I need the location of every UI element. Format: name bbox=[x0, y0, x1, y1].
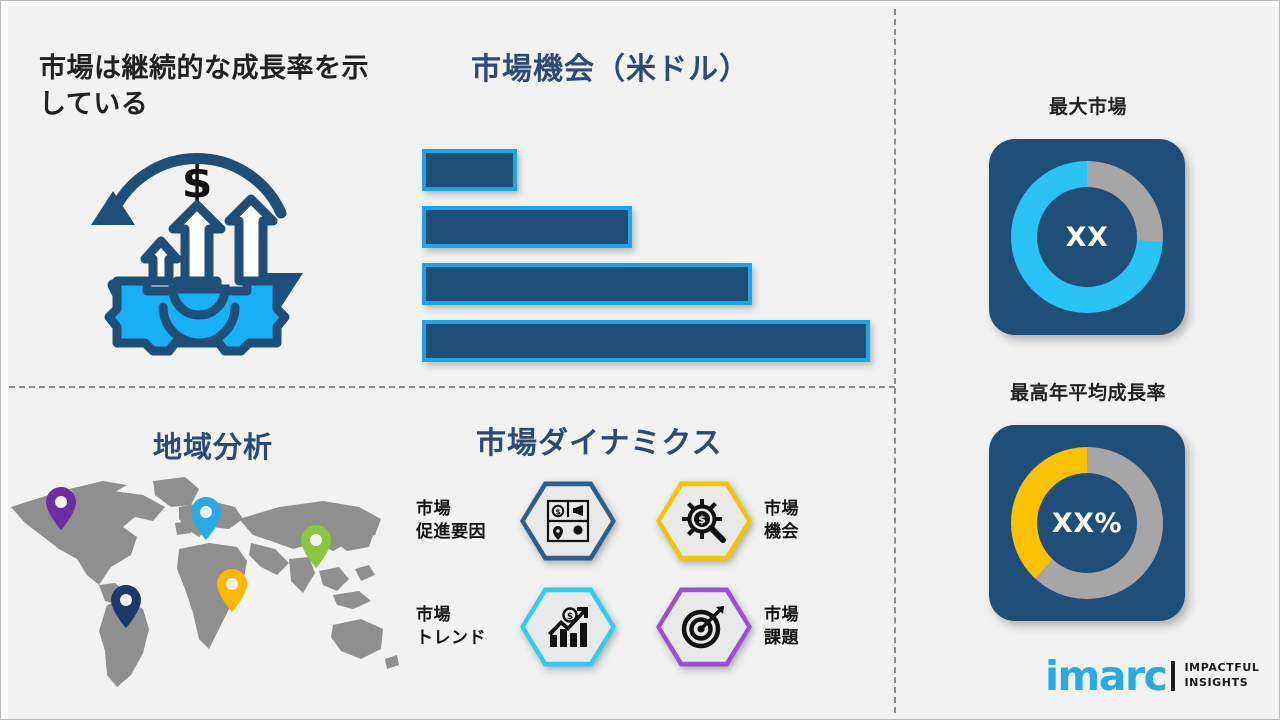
hexagon-trends[interactable]: $ bbox=[520, 585, 616, 669]
hexagon-opportunities[interactable]: $ bbox=[656, 479, 752, 563]
largest-market-card: XX bbox=[989, 139, 1185, 335]
dynamics-label-challenges: 市場 課題 bbox=[764, 604, 856, 651]
largest-market-value-hole: XX bbox=[1037, 187, 1137, 287]
dynamics-item-trends[interactable]: 市場 トレンド $ bbox=[416, 585, 616, 669]
highest-cagr-value: XX% bbox=[1052, 508, 1122, 539]
highest-cagr-title: 最高年平均成長率 bbox=[963, 381, 1213, 406]
vertical-dashed-divider bbox=[894, 9, 896, 713]
market-opportunity-bar-chart bbox=[422, 149, 882, 349]
horizontal-dashed-divider bbox=[9, 386, 895, 388]
svg-text:$: $ bbox=[182, 157, 213, 208]
dynamics-item-challenges[interactable]: 市場 課題 bbox=[656, 585, 856, 669]
bar-row-2 bbox=[422, 206, 632, 248]
growth-cycle-gear-icon: $ bbox=[73, 129, 321, 369]
largest-market-donut: XX bbox=[1011, 161, 1163, 313]
dynamics-label-trends: 市場 トレンド bbox=[416, 604, 508, 651]
largest-market-value: XX bbox=[1066, 222, 1109, 253]
world-map bbox=[3, 463, 403, 695]
imarc-tagline: IMPACTFUL INSIGHTS bbox=[1184, 661, 1259, 691]
highest-cagr-value-hole: XX% bbox=[1037, 473, 1137, 573]
puzzle-pieces-icon: $ bbox=[544, 497, 592, 545]
hexagon-challenges[interactable] bbox=[656, 585, 752, 669]
dynamics-label-opportunities: 市場 機会 bbox=[764, 498, 856, 545]
dynamics-label-drivers: 市場 促進要因 bbox=[416, 498, 508, 545]
imarc-logo[interactable]: imarc IMPACTFUL INSIGHTS bbox=[1045, 653, 1260, 699]
logo-divider-rule bbox=[1171, 661, 1175, 691]
dynamics-item-drivers[interactable]: 市場 促進要因 $ bbox=[416, 479, 616, 563]
largest-market-title: 最大市場 bbox=[963, 95, 1213, 120]
regional-analysis-title: 地域分析 bbox=[153, 429, 273, 465]
market-dynamics-title: 市場ダイナミクス bbox=[476, 425, 723, 463]
bar-row-4 bbox=[422, 320, 870, 362]
imarc-wordmark: imarc bbox=[1045, 656, 1166, 697]
opportunity-section-title: 市場機会（米ドル） bbox=[471, 51, 750, 89]
highest-cagr-donut: XX% bbox=[1011, 447, 1163, 599]
svg-text:$: $ bbox=[555, 508, 561, 517]
svg-text:$: $ bbox=[567, 612, 573, 622]
bar-row-3 bbox=[422, 263, 752, 305]
slide-canvas: 市場は継続的な成長率を示している $ 市場機会（米ドル） 最大市場 bbox=[0, 0, 1280, 720]
highest-cagr-card: XX% bbox=[989, 425, 1185, 621]
market-dynamics-group: 市場 促進要因 $ bbox=[406, 479, 866, 679]
magnifier-dollar-icon: $ bbox=[680, 497, 728, 545]
bar-row-1 bbox=[422, 149, 517, 191]
growth-section-title: 市場は継続的な成長率を示している bbox=[39, 51, 389, 122]
bar-chart-growth-icon: $ bbox=[544, 603, 592, 651]
dynamics-item-opportunities[interactable]: $ 市場 機会 bbox=[656, 479, 856, 563]
svg-text:$: $ bbox=[698, 513, 706, 526]
hexagon-drivers[interactable]: $ bbox=[520, 479, 616, 563]
target-arrow-icon bbox=[680, 603, 728, 651]
